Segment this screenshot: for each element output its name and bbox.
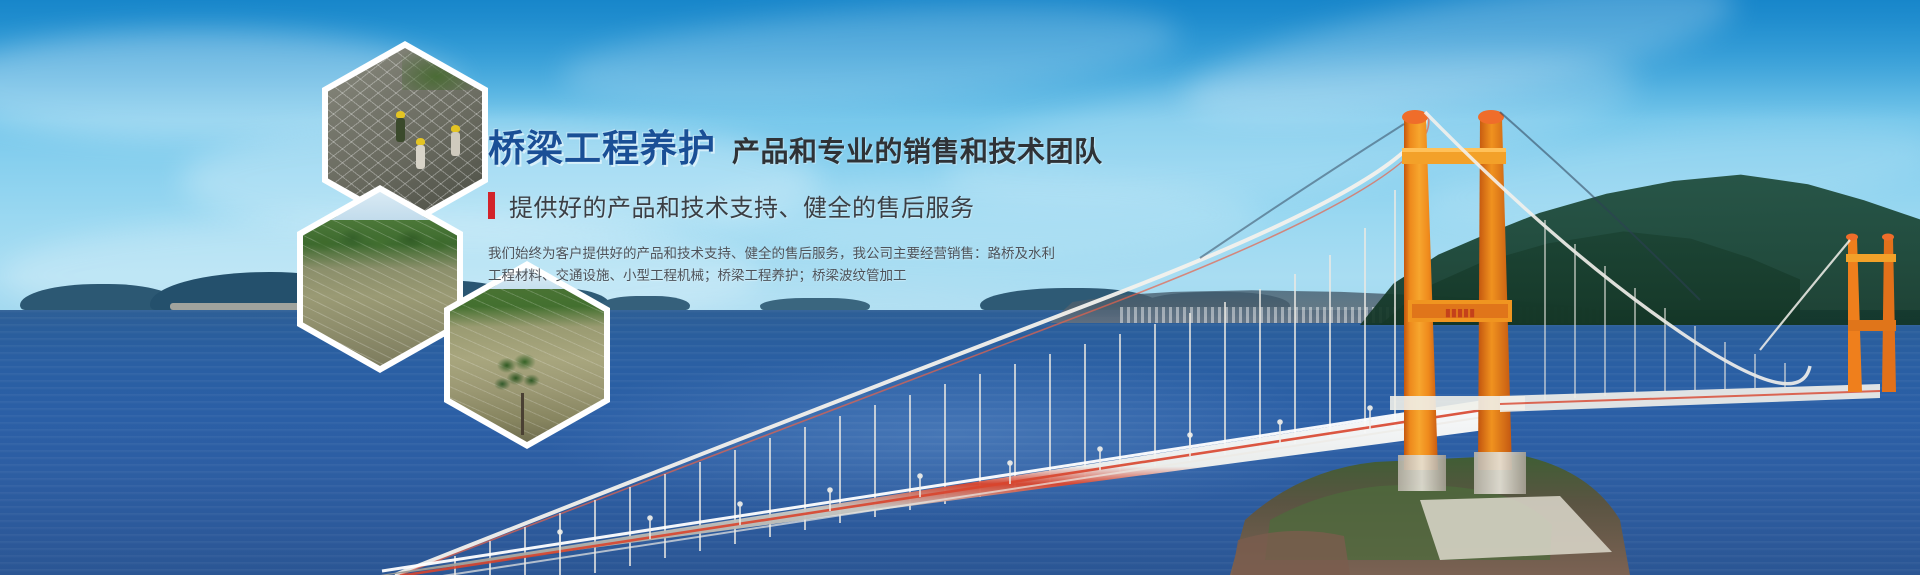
headline-row: 桥梁工程养护 产品和专业的销售和技术团队 xyxy=(488,118,1248,172)
island xyxy=(760,298,870,310)
helmet-icon xyxy=(451,125,460,132)
headline-primary: 桥梁工程养护 xyxy=(488,118,716,172)
description-line-2: 工程材料、交通设施、小型工程机械；桥梁工程养护；桥梁波纹管加工 xyxy=(488,265,1048,287)
worker-figure xyxy=(396,118,405,142)
hero-banner: ▮▮▮▮▮ xyxy=(0,0,1920,575)
description-line-1: 我们始终为客户提供好的产品和技术支持、健全的售后服务，我公司主要经营销售：路桥及… xyxy=(488,243,1048,265)
description-paragraph: 我们始终为客户提供好的产品和技术支持、健全的售后服务，我公司主要经营销售：路桥及… xyxy=(488,243,1048,287)
tree-trunk xyxy=(521,393,524,435)
helmet-icon xyxy=(396,111,405,118)
helmet-icon xyxy=(416,138,425,145)
tree-canopy xyxy=(490,348,546,406)
banner-copy: 桥梁工程养护 产品和专业的销售和技术团队 提供好的产品和技术支持、健全的售后服务… xyxy=(488,118,1248,287)
hexagon-photo-cluster xyxy=(0,0,640,575)
subheadline-text: 提供好的产品和技术支持、健全的售后服务 xyxy=(509,188,975,223)
worker-figure xyxy=(416,145,425,169)
worker-figure xyxy=(451,132,460,156)
headline-secondary: 产品和专业的销售和技术团队 xyxy=(732,130,1103,170)
subheadline-row: 提供好的产品和技术支持、健全的售后服务 xyxy=(488,188,1248,223)
accent-bar xyxy=(488,192,495,219)
